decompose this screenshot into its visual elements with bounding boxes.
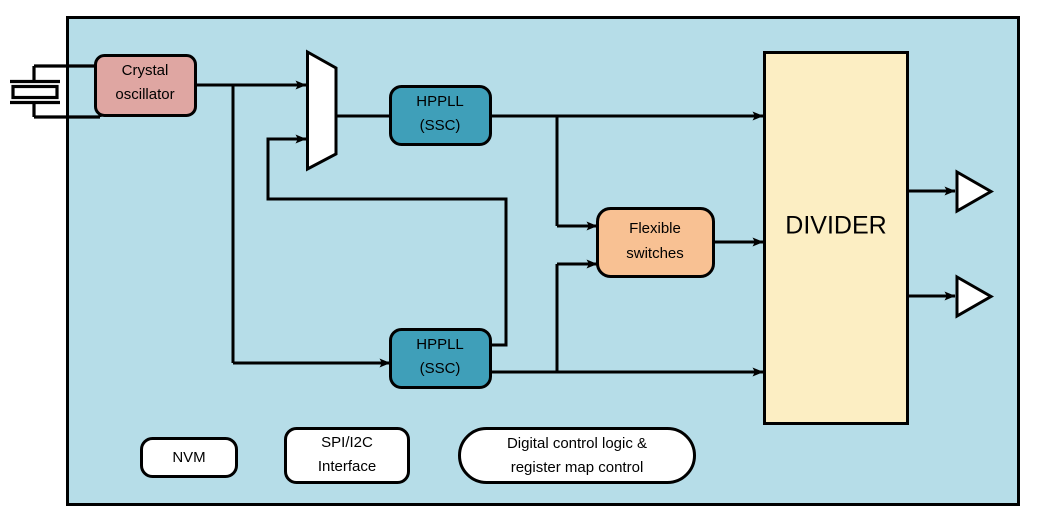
nvm-label: NVM [172, 449, 205, 466]
flexible-switches-block[interactable]: Flexible switches [598, 209, 714, 277]
hppll-bottom-label-line2: (SSC) [420, 360, 461, 377]
multiplexer-icon[interactable] [308, 52, 337, 169]
digital-control-label-line2: register map control [511, 459, 644, 476]
divider-label: DIVIDER [785, 212, 886, 240]
crystal-oscillator-block[interactable]: Crystal oscillator [96, 56, 196, 116]
flexible-switches-label-line1: Flexible [629, 220, 681, 237]
spi-i2c-label-line1: SPI/I2C [321, 434, 373, 451]
flexible-switches-label-line2: switches [626, 245, 684, 262]
diagram-svg: Crystal oscillator HPPLL (SSC) HPPLL (SS… [0, 0, 1040, 522]
divider-block[interactable]: DIVIDER [765, 53, 908, 424]
hppll-bottom-label-line1: HPPLL [416, 336, 464, 353]
hppll-top-label-line2: (SSC) [420, 117, 461, 134]
hppll-top-block[interactable]: HPPLL (SSC) [391, 87, 491, 145]
digital-control-logic-block[interactable]: Digital control logic & register map con… [460, 429, 695, 483]
block-diagram-canvas: Crystal oscillator HPPLL (SSC) HPPLL (SS… [0, 0, 1040, 522]
spi-i2c-interface-block[interactable]: SPI/I2C Interface [286, 429, 409, 483]
hppll-top-label-line1: HPPLL [416, 93, 464, 110]
spi-i2c-label-line2: Interface [318, 458, 376, 475]
hppll-bottom-block[interactable]: HPPLL (SSC) [391, 330, 491, 388]
nvm-block[interactable]: NVM [142, 439, 237, 477]
crystal-oscillator-label-line1: Crystal [122, 62, 169, 79]
digital-control-label-line1: Digital control logic & [507, 435, 647, 452]
crystal-oscillator-label-line2: oscillator [115, 86, 174, 103]
